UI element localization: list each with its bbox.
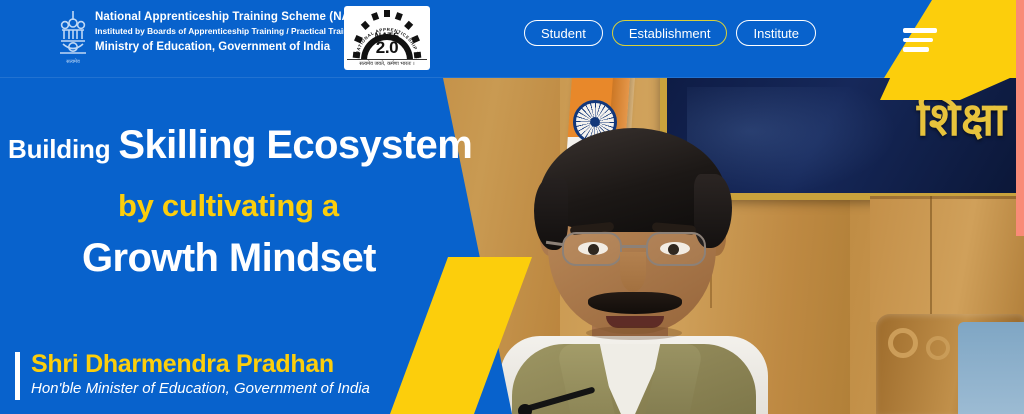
svg-text:सत्यमेव: सत्यमेव — [66, 58, 80, 65]
india-national-emblem-icon: सत्यमेव — [56, 8, 90, 70]
headline-prefix: Building — [8, 134, 110, 164]
nav-pill-student[interactable]: Student — [524, 20, 603, 46]
headline-line-1: BuildingSkilling Ecosystem — [8, 123, 472, 168]
headline-line-3: Growth Mindset — [82, 236, 376, 281]
site-header: सत्यमेव National Apprenticeship Training… — [0, 0, 1024, 78]
headline-emphasis: Skilling Ecosystem — [118, 123, 472, 167]
nav-pill-institute[interactable]: Institute — [736, 20, 816, 46]
headline-line-2: by cultivating a — [118, 188, 339, 224]
lens-left — [562, 232, 622, 266]
wooden-cabinet — [870, 196, 1024, 322]
hamburger-bar — [903, 38, 933, 43]
chair-carving — [888, 328, 918, 358]
header-nav: Student Establishment Institute — [524, 20, 816, 46]
nats-logo-motto: सत्यमेव जयते, कर्मणा भारतः । — [347, 59, 427, 67]
nose — [620, 252, 646, 292]
org-line-3: Ministry of Education, Government of Ind… — [95, 39, 368, 55]
hamburger-bar — [903, 28, 937, 33]
chin-shadow — [586, 326, 682, 340]
chair-carving — [926, 336, 950, 360]
microphone-head-icon — [518, 404, 532, 414]
cabinet-seam — [930, 196, 932, 322]
lens-right — [646, 232, 706, 266]
hamburger-bar — [903, 47, 929, 52]
signature-role: Hon'ble Minister of Education, Governmen… — [31, 380, 370, 397]
header-divider — [0, 77, 1024, 78]
signature-accent-bar — [15, 352, 20, 400]
org-line-2: Instituted by Boards of Apprenticeship T… — [95, 25, 368, 38]
organization-title-block: National Apprenticeship Training Scheme … — [95, 10, 368, 55]
nats-logo[interactable]: NATIONAL APPRENTICESHIP TRAINING SCHEME … — [344, 6, 430, 70]
org-line-1: National Apprenticeship Training Scheme … — [95, 10, 368, 25]
hero-text-block: BuildingSkilling Ecosystem by cultivatin… — [0, 78, 520, 414]
chair-upholstery — [958, 322, 1024, 414]
nats-logo-version: 2.0 — [347, 38, 427, 58]
hamburger-menu-icon[interactable] — [903, 28, 937, 52]
glasses-bridge — [622, 245, 648, 248]
signature-name: Shri Dharmendra Pradhan — [31, 350, 334, 379]
mustache — [588, 292, 682, 314]
nav-pill-establishment[interactable]: Establishment — [612, 20, 728, 46]
right-edge-strip — [1016, 0, 1024, 236]
hero-banner-page: शिक्षा — [0, 0, 1024, 414]
